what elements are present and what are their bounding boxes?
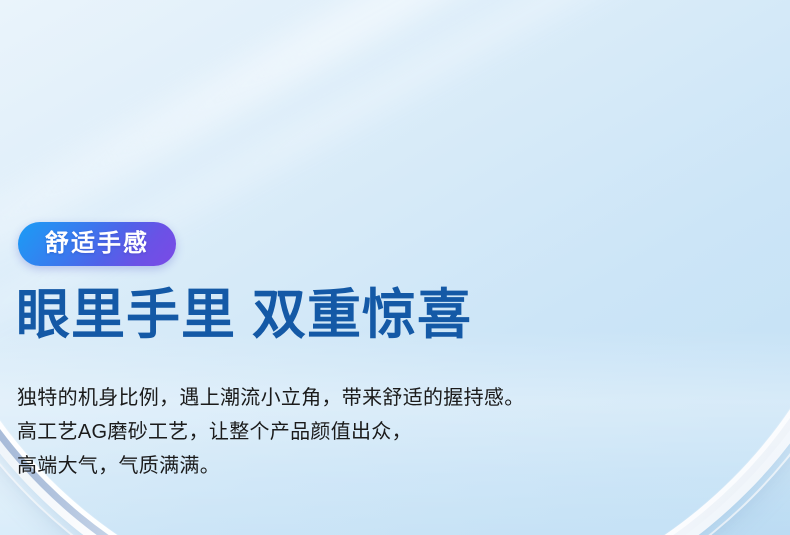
body-line-1: 独特的机身比例，遇上潮流小立角，带来舒适的握持感。: [17, 381, 757, 415]
product-feature-banner: 舒适手感 眼里手里 双重惊喜 独特的机身比例，遇上潮流小立角，带来舒适的握持感。…: [0, 0, 790, 535]
body-line-3: 高端大气，气质满满。: [17, 449, 757, 483]
banner-body-copy: 独特的机身比例，遇上潮流小立角，带来舒适的握持感。 高工艺AG磨砂工艺，让整个产…: [17, 381, 757, 483]
banner-headline: 眼里手里 双重惊喜: [16, 286, 472, 345]
feature-badge-label: 舒适手感: [45, 232, 149, 256]
body-line-2: 高工艺AG磨砂工艺，让整个产品颜值出众，: [17, 415, 757, 449]
banner-content: 舒适手感 眼里手里 双重惊喜 独特的机身比例，遇上潮流小立角，带来舒适的握持感。…: [0, 0, 790, 535]
feature-badge: 舒适手感: [18, 222, 176, 266]
